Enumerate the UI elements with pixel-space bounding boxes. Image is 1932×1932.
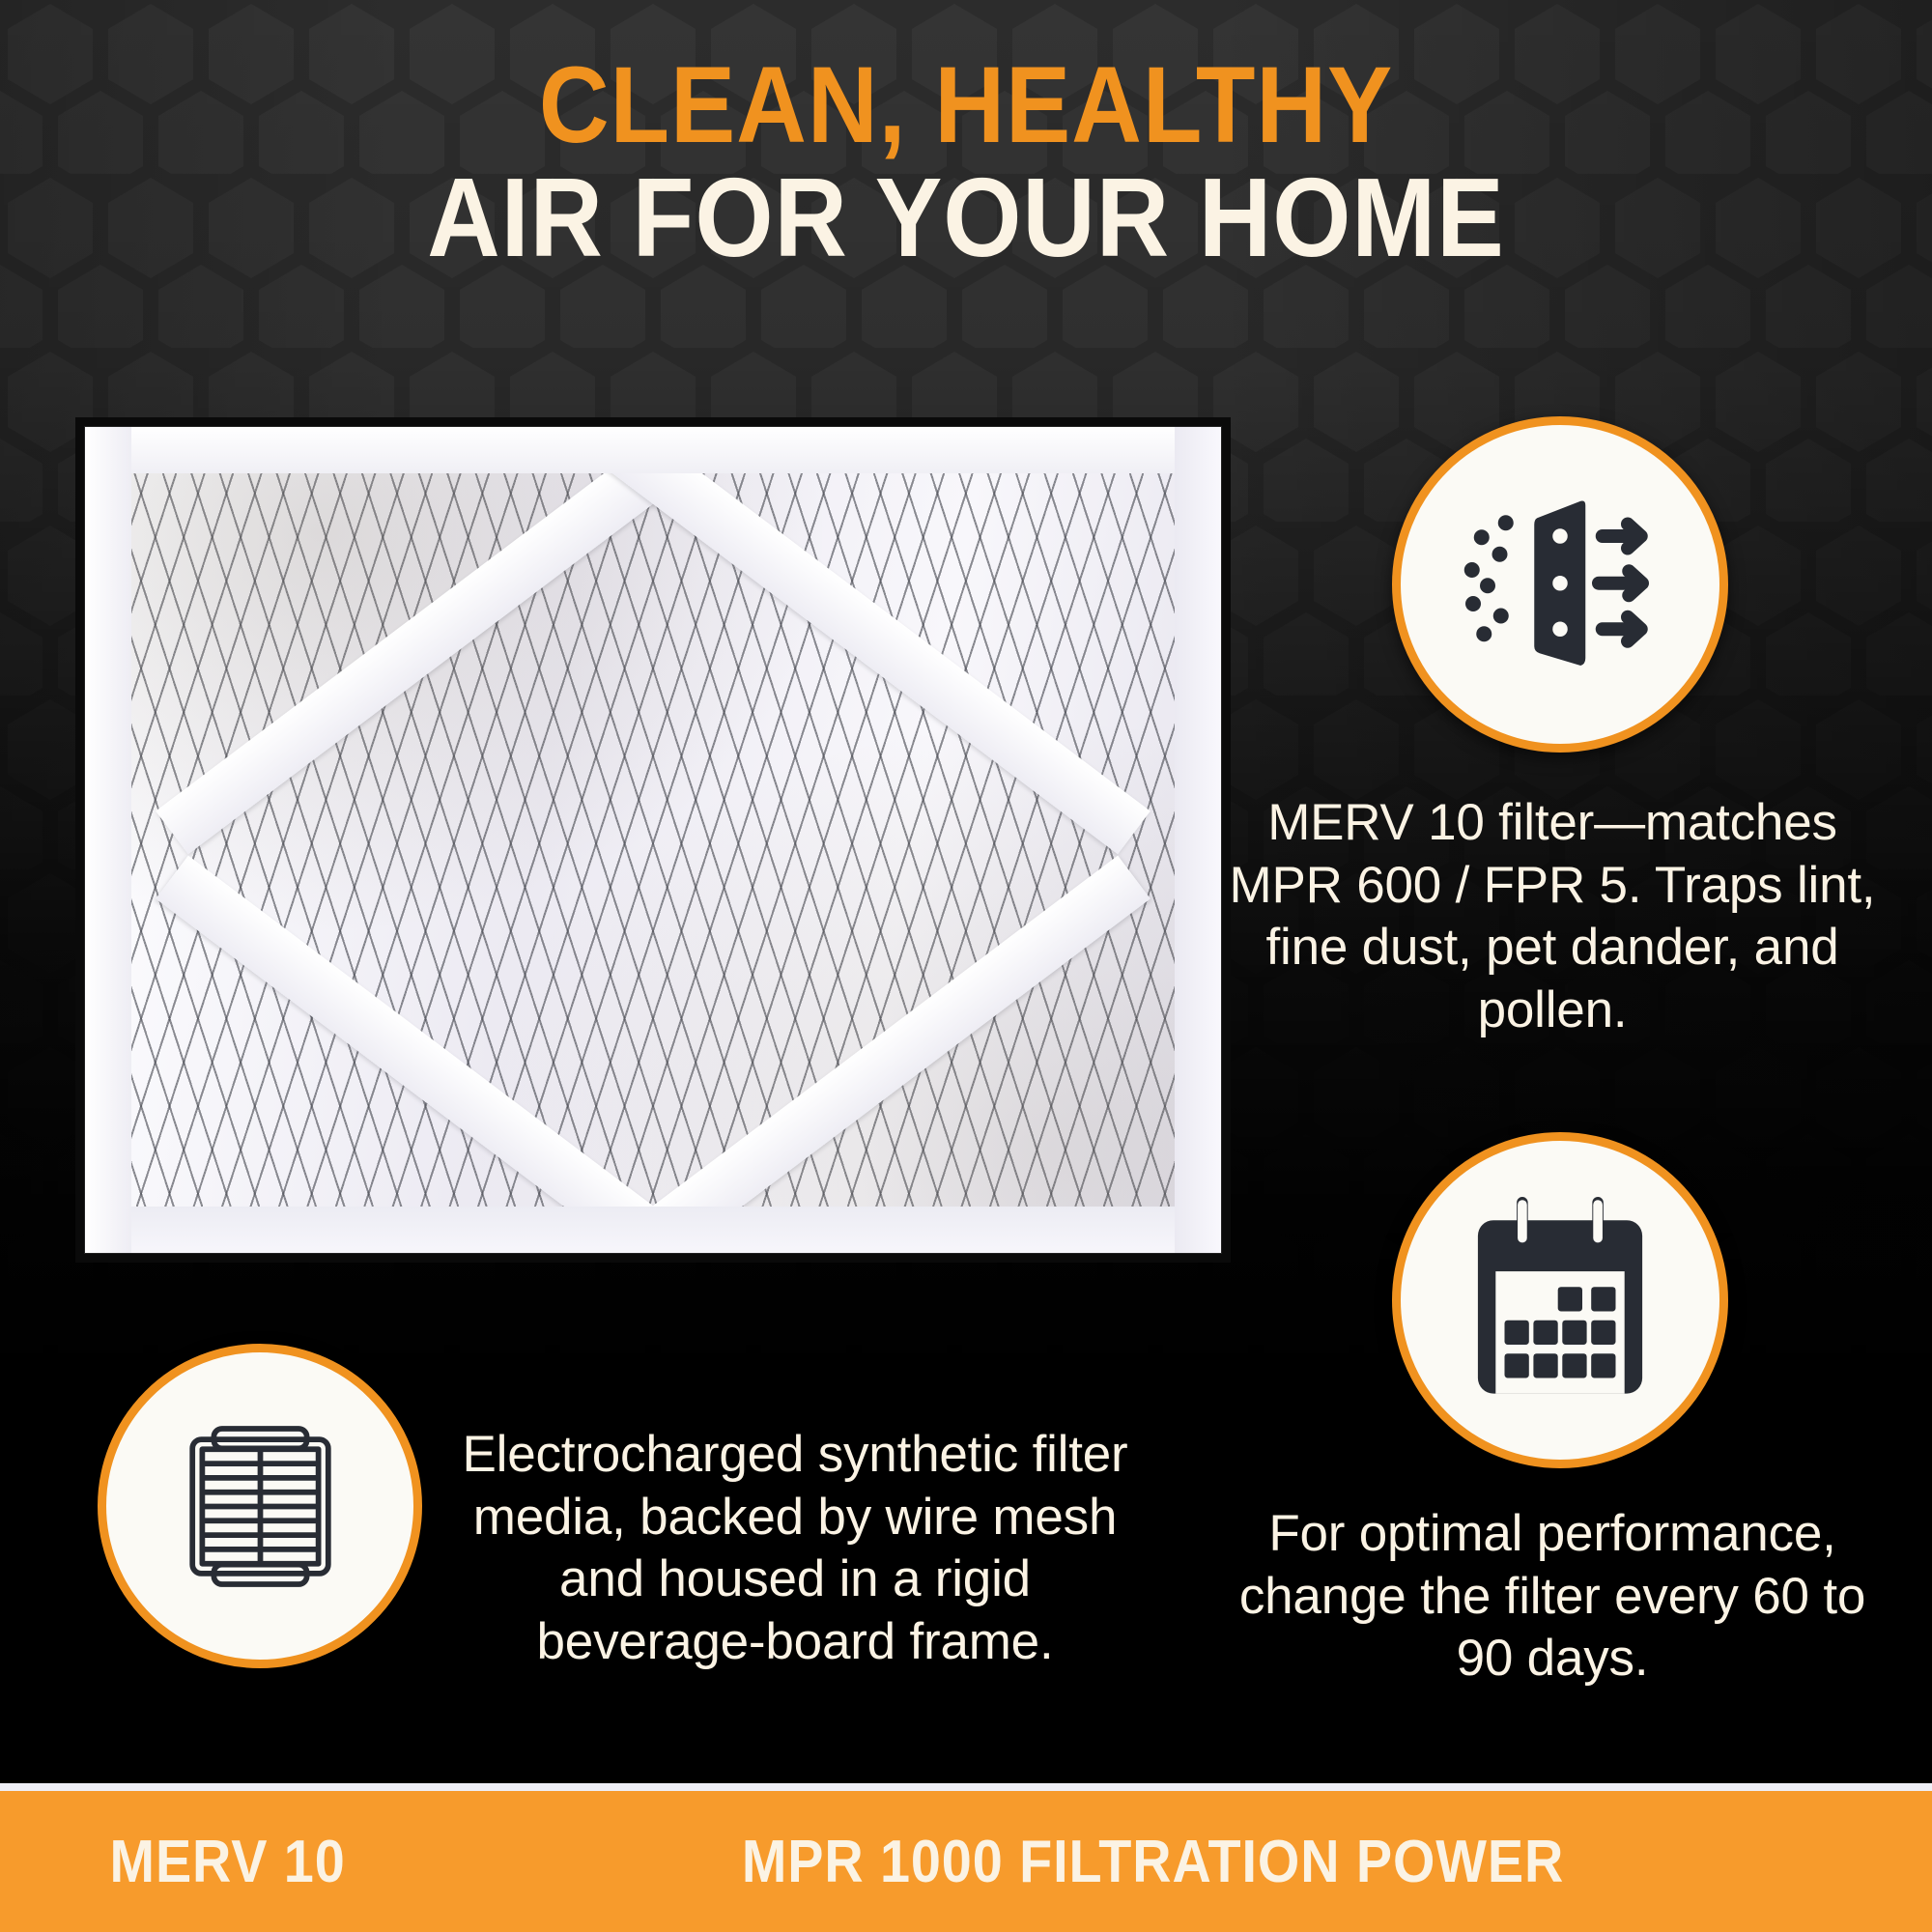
filter-airflow-icon — [1439, 464, 1681, 705]
footer-divider — [0, 1783, 1932, 1791]
filter-airflow-icon-badge — [1392, 416, 1728, 753]
wire-mesh-texture — [131, 473, 1175, 1207]
headline-line-1: CLEAN, HEALTHY — [97, 50, 1835, 160]
product-photo-air-filter — [75, 417, 1231, 1263]
calendar-icon — [1449, 1189, 1671, 1411]
feature-text-airflow: MERV 10 filter—matches MPR 600 / FPR 5. … — [1209, 792, 1895, 1042]
filter-frame-left — [85, 427, 131, 1253]
calendar-icon-badge — [1392, 1132, 1728, 1468]
filter-body — [85, 427, 1221, 1253]
headline-line-2: AIR FOR YOUR HOME — [97, 160, 1835, 274]
filter-frame-top — [85, 427, 1221, 473]
filter-media-grille-icon-badge — [98, 1344, 422, 1668]
footer-bar: MERV 10 MPR 1000 FILTRATION POWER — [0, 1791, 1932, 1932]
filter-frame-bottom — [85, 1207, 1221, 1253]
feature-text-calendar: For optimal performance, change the filt… — [1209, 1503, 1895, 1690]
page-title: CLEAN, HEALTHY AIR FOR YOUR HOME — [0, 50, 1932, 275]
filter-media-grille-icon — [171, 1417, 350, 1596]
footer-label-mpr: MPR 1000 FILTRATION POWER — [97, 1828, 1835, 1896]
feature-text-media: Electrocharged synthetic filter media, b… — [452, 1424, 1138, 1674]
infographic-page: CLEAN, HEALTHY AIR FOR YOUR HOME — [0, 0, 1932, 1932]
